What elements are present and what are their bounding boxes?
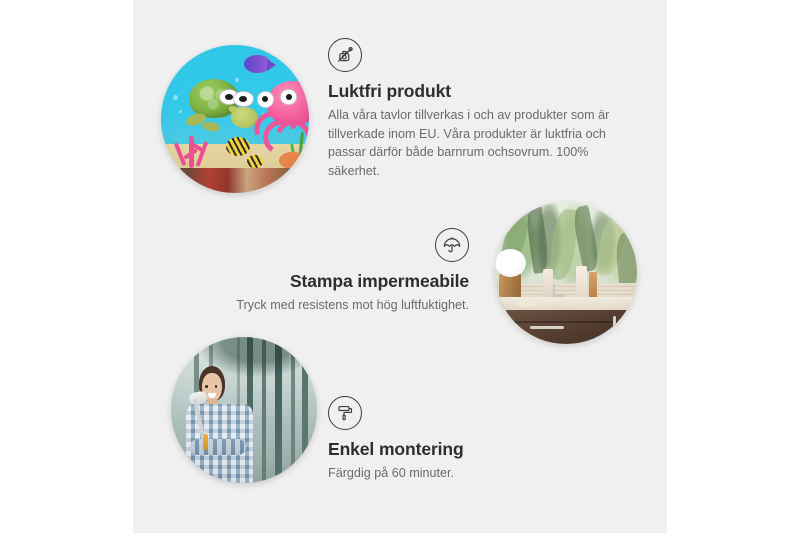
- bubble-icon: [179, 110, 182, 113]
- no-fragrance-icon: [328, 38, 362, 72]
- feature-title: Luktfri produkt: [328, 81, 618, 102]
- paint-can-prop: [203, 434, 208, 450]
- feature-title: Stampa impermeabile: [193, 271, 469, 292]
- feature-description: Tryck med resistens mot hög luftfuktighe…: [193, 296, 469, 315]
- woman-paint-roller-forest-photo: [171, 337, 317, 483]
- bathroom-leaf-wallpaper-photo: [495, 202, 637, 344]
- coral-illustration: [173, 126, 217, 167]
- yellow-fish-illustration: [247, 155, 263, 168]
- feature-description: Färgdig på 60 minuter.: [328, 464, 618, 483]
- umbrella-icon: [435, 228, 469, 262]
- sea-turtle-illustration: [186, 79, 254, 132]
- yellow-fish-illustration: [226, 137, 250, 156]
- product-feature-infographic: Luktfri produkt Alla våra tavlor tillver…: [0, 0, 800, 533]
- feature-description: Alla våra tavlor tillverkas i och av pro…: [328, 106, 618, 181]
- bottle: [543, 269, 553, 300]
- feature-title: Enkel montering: [328, 439, 618, 460]
- woman-figure: [183, 366, 259, 483]
- room-photo-strip: [161, 168, 309, 193]
- underwater-cartoon-photo: [161, 45, 309, 193]
- feature-text-easy-mounting: Enkel montering Färgdig på 60 minuter.: [328, 396, 618, 483]
- paint-roller-icon: [328, 396, 362, 430]
- feature-panel: Luktfri produkt Alla våra tavlor tillver…: [133, 0, 667, 533]
- bottle: [576, 266, 587, 302]
- feature-text-waterproof: Stampa impermeabile Tryck med resistens …: [193, 228, 469, 315]
- blue-fish-illustration: [244, 55, 271, 73]
- feature-text-odorless: Luktfri produkt Alla våra tavlor tillver…: [328, 38, 618, 181]
- wooden-vanity: [506, 310, 637, 344]
